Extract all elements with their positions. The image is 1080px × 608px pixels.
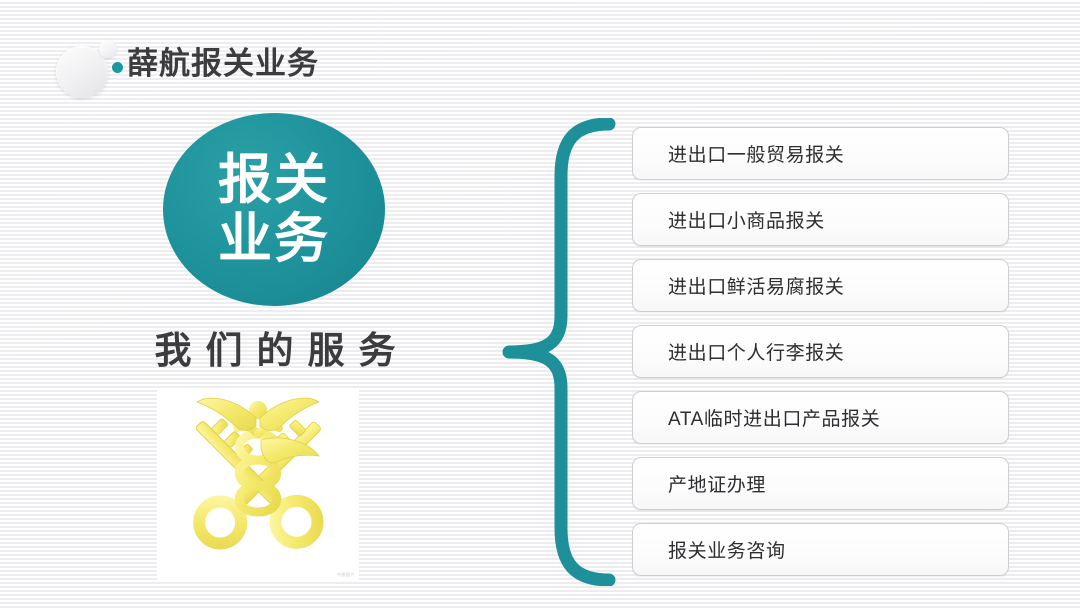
list-item[interactable]: 报关业务咨询: [632, 523, 1009, 576]
list-item-label: 进出口个人行李报关: [633, 338, 844, 365]
list-item[interactable]: 进出口鲜活易腐报关: [632, 259, 1009, 312]
service-badge-line-2: 业务: [218, 210, 330, 268]
service-badge: 报关 业务: [163, 113, 385, 306]
list-item-label: 产地证办理: [633, 470, 766, 497]
list-item-label: 进出口小商品报关: [633, 206, 825, 233]
slide-canvas: 薛航报关业务 报关 业务 我们的服务: [0, 0, 1080, 608]
customs-emblem-icon: [157, 388, 359, 580]
subtitle: 我们的服务: [110, 320, 440, 374]
service-badge-line-1: 报关: [218, 151, 330, 209]
curly-brace-connector: [489, 118, 619, 586]
list-item-label: ATA临时进出口产品报关: [633, 404, 880, 431]
page-title: 薛航报关业务: [127, 47, 319, 81]
list-item[interactable]: ATA临时进出口产品报关: [632, 391, 1009, 444]
list-item-label: 进出口一般贸易报关: [633, 140, 844, 167]
list-item[interactable]: 进出口个人行李报关: [632, 325, 1009, 378]
curly-brace-icon: [489, 118, 619, 586]
customs-emblem-image: 中国图片: [157, 388, 359, 580]
list-item-label: 进出口鲜活易腐报关: [633, 272, 844, 299]
emblem-credit: 中国图片: [337, 572, 355, 578]
list-item[interactable]: 产地证办理: [632, 457, 1009, 510]
list-item-label: 报关业务咨询: [633, 536, 786, 563]
circle-icon-small: [99, 40, 117, 58]
services-list: 进出口一般贸易报关 进出口小商品报关 进出口鲜活易腐报关 进出口个人行李报关 A…: [632, 127, 1009, 576]
list-item[interactable]: 进出口一般贸易报关: [632, 127, 1009, 180]
dot-icon: [112, 62, 123, 73]
service-badge-text: 报关 业务: [163, 113, 385, 306]
list-item[interactable]: 进出口小商品报关: [632, 193, 1009, 246]
